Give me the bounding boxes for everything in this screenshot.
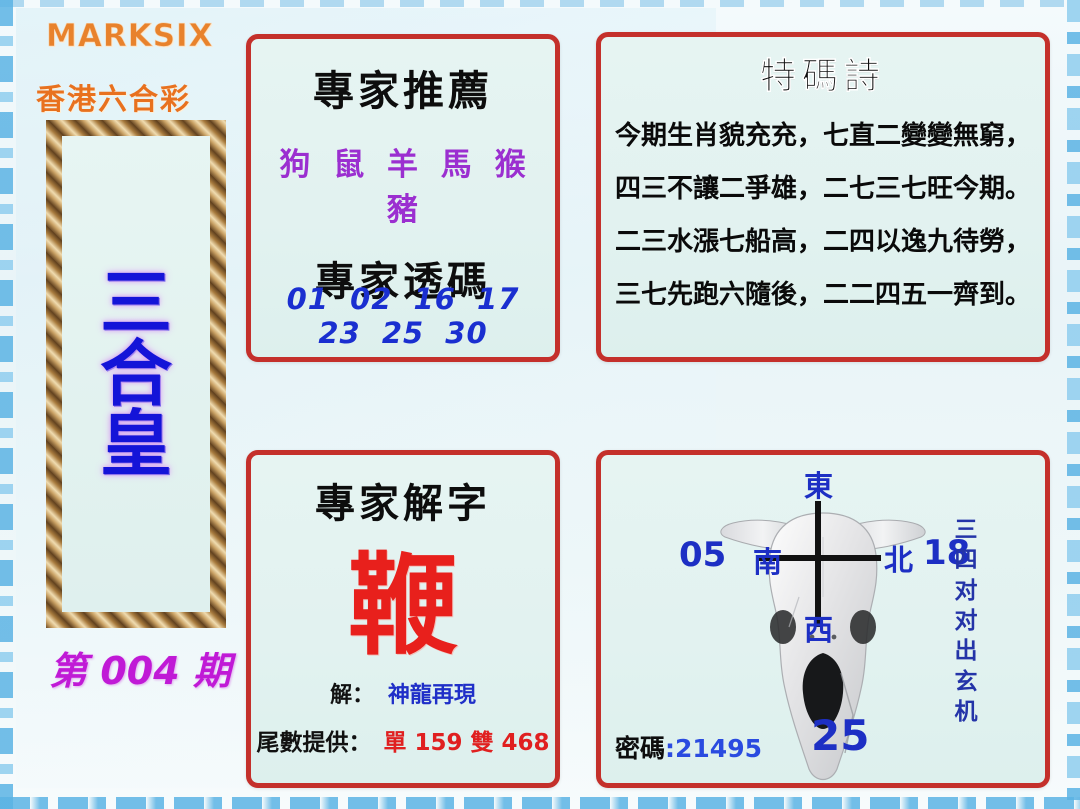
zodiac-item: 狗 bbox=[279, 147, 311, 183]
expert-number: 30 bbox=[445, 316, 487, 350]
poem-panel-title: 特碼詩 bbox=[601, 47, 1045, 99]
vertical-hint-char: 三 bbox=[951, 515, 981, 545]
password-row: 密碼:21495 bbox=[615, 729, 762, 765]
compass-direction-north: 北 bbox=[884, 537, 913, 579]
zodiac-item: 豬 bbox=[387, 192, 419, 228]
vertical-hint-text: 三 四 对 对 出 玄 机 bbox=[951, 515, 981, 728]
skull-compass-panel: 東 南 北 西 05 18 25 三 四 对 对 出 玄 机 密碼:21495 bbox=[596, 450, 1050, 788]
vertical-hint-char: 四 bbox=[951, 545, 981, 575]
zodiac-list: 狗 鼠 羊 馬 猴 豬 bbox=[251, 139, 555, 229]
frame-edge-right bbox=[1067, 0, 1080, 809]
poem-line: 二三水漲七船高，二四以逸九待勞， bbox=[601, 221, 1045, 258]
vertical-hint-char: 机 bbox=[951, 697, 981, 727]
vertical-hint-char: 玄 bbox=[951, 667, 981, 697]
brand-chinese-title: 香港六合彩 bbox=[36, 76, 191, 118]
decode-explanation-value: 神龍再現 bbox=[388, 683, 476, 708]
issue-number-label: 第 004 期 bbox=[40, 640, 240, 695]
expert-number: 25 bbox=[382, 316, 424, 350]
password-value: :21495 bbox=[665, 734, 762, 763]
expert-recommendation-panel: 專家推薦 狗 鼠 羊 馬 猴 豬 專家透碼 01 02 16 17 23 25 … bbox=[246, 34, 560, 362]
tail-numbers-value: 單 159 雙 468 bbox=[383, 730, 549, 756]
expert-number-list: 01 02 16 17 23 25 30 bbox=[251, 282, 555, 350]
expert-number: 16 bbox=[414, 282, 456, 316]
scroll-char-3: 皇 bbox=[100, 410, 172, 478]
page-root: MARKSIX 香港六合彩 三 合 皇 第 004 期 專家推薦 狗 鼠 羊 馬… bbox=[0, 0, 1080, 809]
poem-line: 今期生肖貌充充，七直二變變無窮， bbox=[601, 115, 1045, 152]
scroll-char-2: 合 bbox=[100, 340, 172, 408]
zodiac-item: 鼠 bbox=[333, 147, 365, 183]
poem-line: 三七先跑六隨後，二二四五一齊到。 bbox=[601, 274, 1045, 311]
compass-direction-west: 西 bbox=[804, 607, 833, 649]
compass-direction-south: 南 bbox=[753, 539, 782, 581]
skull-number-bottom: 25 bbox=[811, 711, 869, 760]
expert-number: 01 bbox=[287, 282, 329, 316]
frame-edge-left bbox=[0, 0, 13, 809]
decode-big-character: 鞭 bbox=[251, 551, 555, 661]
skull-stage: 東 南 北 西 05 18 25 三 四 对 对 出 玄 机 密碼:21495 bbox=[601, 455, 1045, 783]
poem-line: 四三不讓二爭雄，二七三七旺今期。 bbox=[601, 168, 1045, 205]
decode-explanation-label: 解： bbox=[330, 683, 374, 708]
scroll-inner: 三 合 皇 bbox=[62, 136, 210, 612]
zodiac-item: 馬 bbox=[441, 147, 473, 183]
tail-numbers-label: 尾數提供： bbox=[256, 730, 371, 756]
decode-panel-title: 專家解字 bbox=[251, 471, 555, 529]
skull-number-left: 05 bbox=[679, 535, 726, 575]
vertical-hint-char: 对 bbox=[951, 576, 981, 606]
expert-panel-title: 專家推薦 bbox=[251, 57, 555, 117]
special-code-poem-panel: 特碼詩 今期生肖貌充充，七直二變變無窮， 四三不讓二爭雄，二七三七旺今期。 二三… bbox=[596, 32, 1050, 362]
password-label: 密碼 bbox=[615, 734, 665, 763]
expert-number: 23 bbox=[318, 316, 360, 350]
expert-number: 17 bbox=[477, 282, 519, 316]
decode-explanation-row: 解： 神龍再現 bbox=[251, 677, 555, 709]
left-branding-column: MARKSIX 香港六合彩 三 合 皇 第 004 期 bbox=[14, 4, 234, 804]
expert-decode-panel: 專家解字 鞭 解： 神龍再現 尾數提供： 單 159 雙 468 bbox=[246, 450, 560, 788]
vertical-hint-char: 对 bbox=[951, 606, 981, 636]
zodiac-item: 羊 bbox=[387, 147, 419, 183]
tail-numbers-row: 尾數提供： 單 159 雙 468 bbox=[251, 723, 555, 757]
scroll-plaque: 三 合 皇 bbox=[46, 120, 226, 628]
zodiac-item: 猴 bbox=[495, 147, 527, 183]
compass-direction-east: 東 bbox=[804, 463, 833, 505]
brand-latin-title: MARKSIX bbox=[46, 18, 214, 54]
expert-number: 02 bbox=[350, 282, 392, 316]
scroll-char-1: 三 bbox=[100, 269, 172, 337]
vertical-hint-char: 出 bbox=[951, 636, 981, 666]
